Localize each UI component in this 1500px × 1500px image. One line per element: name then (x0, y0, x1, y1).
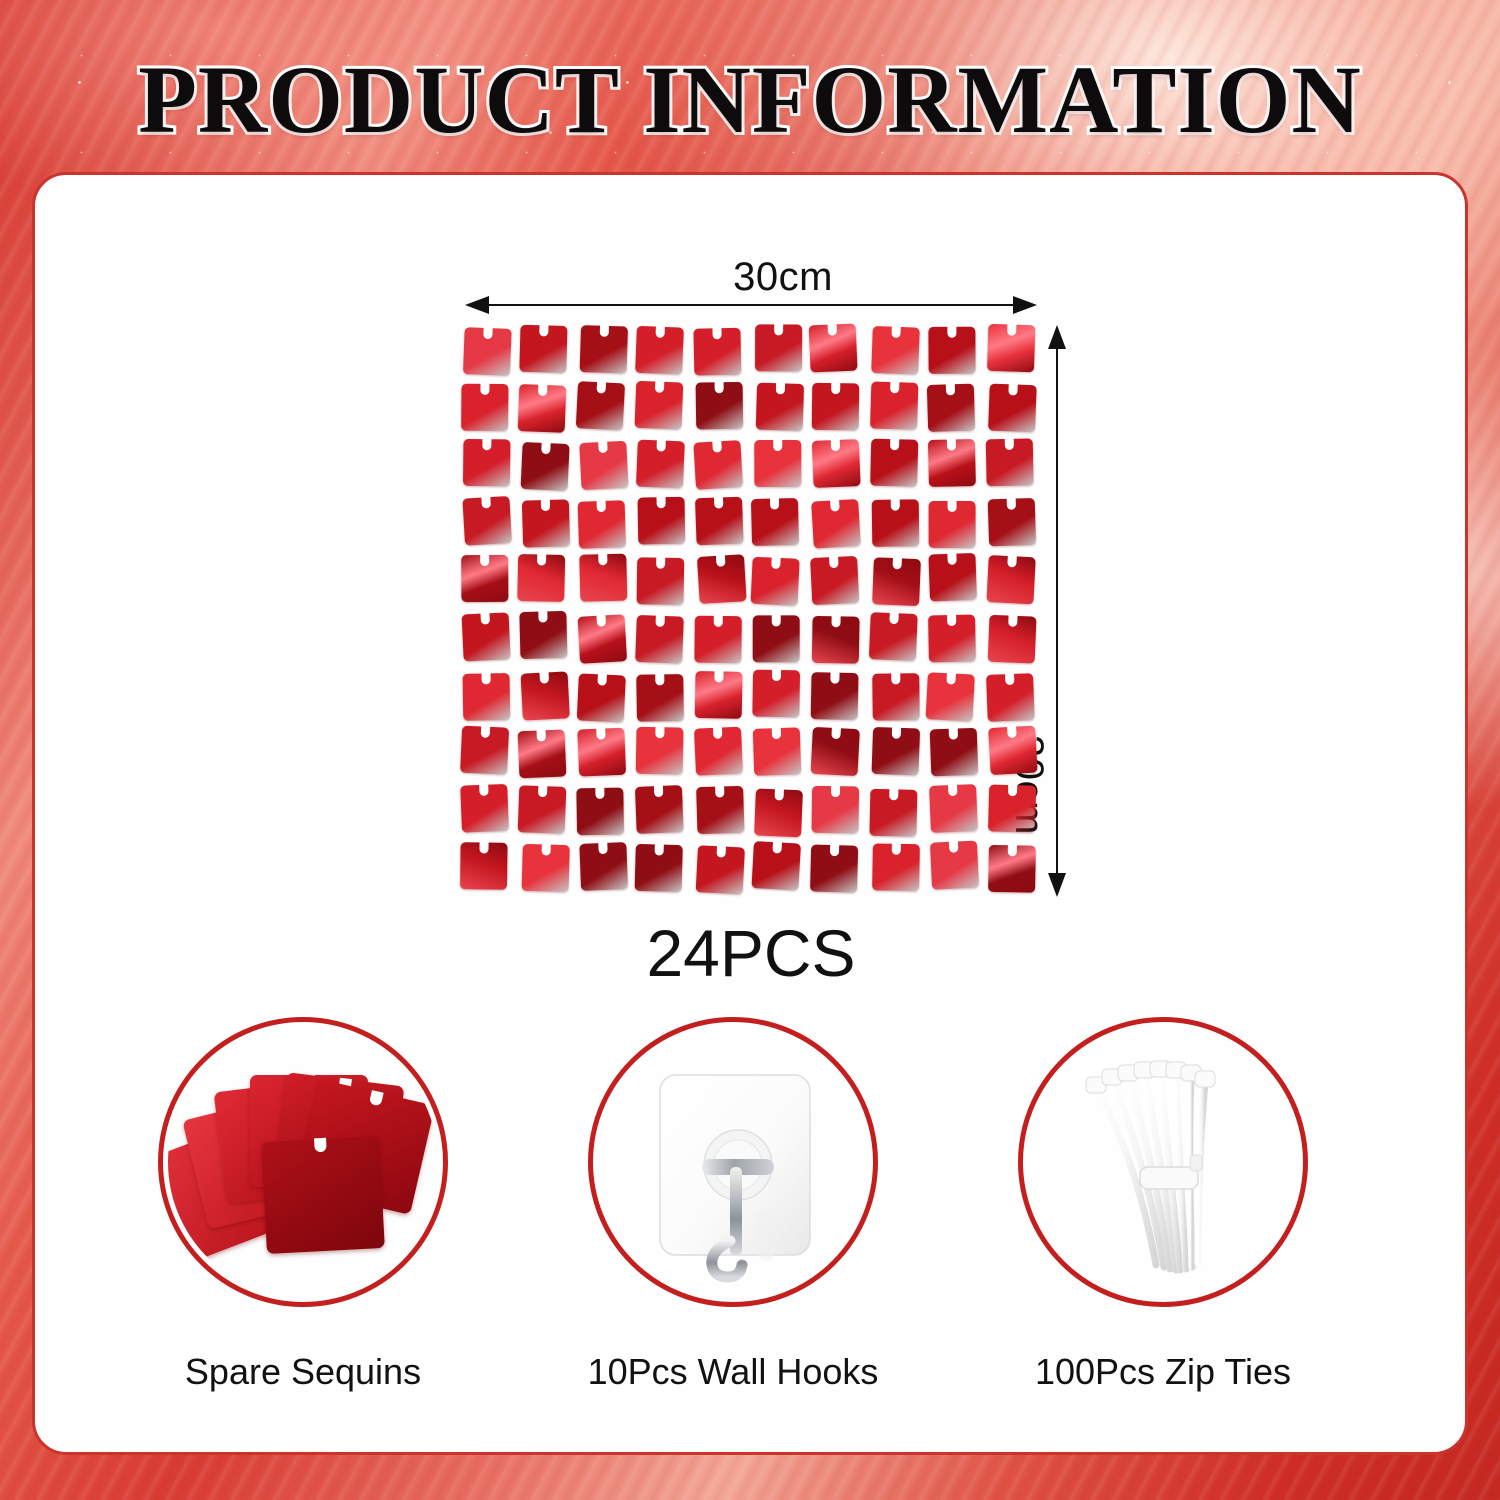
sequin-notch-icon (715, 554, 725, 568)
wall-hook-icon (598, 1027, 868, 1297)
sequin-cell (751, 841, 809, 899)
height-dimension-arrow-icon (1045, 323, 1069, 899)
sequin-cell (926, 611, 984, 669)
sequin-notch-icon (889, 787, 898, 800)
infographic-stage: PRODUCT INFORMATION 30cm 30cm 24PCS (0, 0, 1500, 1500)
sequin-notch-icon (772, 726, 781, 739)
sequin-notch-icon (537, 553, 546, 566)
sequin-notch-icon (596, 613, 606, 626)
sequin-tile (693, 328, 741, 376)
sequin-tile (460, 726, 509, 775)
sequin-cell (985, 496, 1043, 554)
sequin-notch-icon (948, 783, 958, 796)
sequin-notch-icon (772, 668, 781, 681)
sequin-tile (928, 615, 976, 663)
sequin-tile (695, 496, 744, 545)
sequin-notch-icon (890, 380, 899, 393)
sequin-cell (868, 553, 926, 611)
sequin-notch-icon (541, 498, 550, 511)
sequin-cell (459, 323, 517, 381)
sequin-tile (755, 324, 802, 371)
sequin-notch-icon (656, 725, 665, 738)
sequin-notch-icon (540, 323, 549, 336)
sequin-tile (694, 727, 743, 776)
sequin-tile (926, 672, 975, 721)
sequin-tile (518, 384, 567, 433)
sequin-notch-icon (656, 614, 665, 627)
sequin-cell (517, 726, 575, 784)
sequin-notch-icon (889, 611, 899, 624)
page-title: PRODUCT INFORMATION (0, 48, 1500, 152)
sequin-cell (634, 841, 692, 899)
sequin-notch-icon (599, 324, 608, 337)
sequin-cell (868, 611, 926, 669)
sequin-cell (809, 726, 867, 784)
sequin-tile (812, 439, 861, 488)
sequin-cell (634, 496, 692, 554)
sequin-cell (868, 496, 926, 554)
sequin-cell (926, 553, 984, 611)
sequin-cell (459, 496, 517, 554)
sequin-cell (576, 496, 634, 554)
sequin-cell (751, 611, 809, 669)
sequin-notch-icon (596, 380, 606, 393)
sequin-tile (986, 555, 1035, 604)
sequin-tile (463, 327, 512, 376)
sequin-tile (518, 554, 566, 602)
sequin-notch-icon (891, 671, 900, 684)
sequin-tile (636, 727, 684, 775)
sequin-notch-icon (947, 671, 957, 684)
sequin-notch-icon (657, 439, 667, 452)
sequin-notch-icon (1007, 844, 1016, 857)
sequin-tile (636, 674, 684, 722)
sequin-notch-icon (479, 841, 488, 854)
sequin-notch-icon (712, 439, 722, 453)
sequin-cell (517, 841, 575, 899)
sequin-cell (985, 669, 1043, 727)
sequin-tile (753, 728, 801, 776)
sequin-notch-icon (713, 614, 722, 627)
sequin-cell (517, 784, 575, 842)
sequin-cell (459, 726, 517, 784)
width-dimension-arrow-icon (463, 293, 1039, 317)
sequin-notch-icon (772, 613, 781, 626)
sequin-tile (697, 555, 747, 605)
sequin-notch-icon (480, 611, 490, 624)
sequin-cell (459, 669, 517, 727)
sequin-tile (872, 844, 920, 892)
sequin-tile (810, 556, 859, 605)
sequin-cell (751, 496, 809, 554)
sequin-notch-icon (482, 437, 491, 450)
sequin-cell (809, 784, 867, 842)
accessory-caption: Spare Sequins (138, 1351, 468, 1393)
sequin-cell (868, 784, 926, 842)
sequin-notch-icon (948, 325, 957, 338)
sequin-cell (459, 611, 517, 669)
sequin-tile (635, 785, 684, 834)
sequin-tile (638, 497, 686, 545)
sequin-notch-icon (598, 440, 608, 453)
sequin-notch-icon (947, 613, 956, 626)
sequin-notch-icon (657, 495, 666, 508)
sequin-cell (693, 323, 751, 381)
sequin-tile (869, 789, 917, 837)
sequin-cell (985, 553, 1043, 611)
sequin-tile (811, 672, 859, 720)
sequin-tile (695, 846, 744, 895)
sequin-notch-icon (537, 728, 547, 741)
sequin-notch-icon (831, 784, 840, 797)
sequin-tile (930, 728, 979, 777)
sequin-cell (751, 784, 809, 842)
sequin-notch-icon (714, 669, 723, 682)
sequin-cell (693, 726, 751, 784)
sequin-tile (635, 380, 684, 429)
accessory-inset-zip-ties (1018, 1017, 1308, 1307)
sequin-notch-icon (538, 784, 547, 797)
sequin-tile (812, 499, 862, 549)
sequin-cell (926, 323, 984, 381)
sequin-tile (635, 844, 683, 892)
sequin-tile (635, 615, 684, 664)
sequin-cell (985, 726, 1043, 784)
sequin-cell (809, 841, 867, 899)
sequin-notch-icon (1005, 671, 1014, 684)
sequin-notch-icon (715, 784, 724, 797)
sequin-notch-icon (483, 326, 492, 339)
sequin-notch-icon (656, 556, 665, 569)
sequin-cell (868, 438, 926, 496)
sequin-cell (634, 726, 692, 784)
sequin-tile (751, 557, 800, 606)
sequin-cell (693, 841, 751, 899)
sequin-tile (522, 499, 570, 547)
sequin-tile (929, 501, 976, 548)
sequin-cell (576, 438, 634, 496)
sequin-notch-icon (771, 556, 781, 569)
sequin-notch-icon (890, 437, 899, 450)
sequin-cell (693, 496, 751, 554)
sequin-notch-icon (655, 672, 664, 685)
sequin-cell (693, 784, 751, 842)
sequin-tile (577, 614, 627, 664)
sequin-cell (459, 438, 517, 496)
sequin-tile (462, 496, 512, 546)
sequin-notch-icon (948, 552, 957, 565)
sequin-notch-icon (1006, 496, 1015, 509)
sequin-tile (872, 499, 920, 547)
sequin-tile (812, 616, 860, 664)
sequin-tile (987, 615, 1036, 664)
sequin-cell (985, 323, 1043, 381)
sequin-notch-icon (772, 840, 782, 853)
sequin-notch-icon (892, 842, 901, 855)
sequin-cell (576, 669, 634, 727)
sequin-tile (636, 440, 685, 489)
sequin-cell (693, 381, 751, 439)
sequin-notch-icon (542, 441, 552, 454)
sequin-notch-icon (481, 725, 491, 738)
sequin-tile (576, 787, 624, 835)
sequin-cell (926, 381, 984, 439)
sequin-cell (634, 784, 692, 842)
sequin-notch-icon (946, 382, 955, 395)
sequin-cell (459, 841, 517, 899)
sequin-notch-icon (712, 326, 721, 339)
sequin-panel (459, 323, 1043, 899)
sequin-cell (459, 381, 517, 439)
sequin-cell (751, 381, 809, 439)
accessory-inset-spare-sequins (158, 1017, 448, 1307)
sequin-notch-icon (832, 614, 841, 627)
sequin-notch-icon (714, 380, 723, 393)
sequin-notch-icon (656, 325, 666, 338)
sequin-cell (926, 669, 984, 727)
sequin-tile (579, 325, 627, 373)
sequin-cell (926, 438, 984, 496)
sequin-tile (460, 843, 508, 891)
sequin-tile (751, 498, 799, 546)
sequin-notch-icon (716, 845, 726, 858)
sequin-tile (812, 786, 860, 834)
content-card: 30cm 30cm 24PCS (32, 172, 1468, 1455)
sequin-tile (871, 727, 920, 776)
sequin-cell (693, 611, 751, 669)
sequin-cell (868, 381, 926, 439)
sequin-tile (637, 558, 685, 606)
sequin-cell (576, 784, 634, 842)
sequin-cell (868, 841, 926, 899)
sequin-cell (751, 669, 809, 727)
sequin-tile (872, 558, 921, 607)
sequin-notch-icon (832, 726, 842, 739)
sequin-tile (929, 553, 978, 602)
sequin-notch-icon (479, 782, 488, 795)
sequin-tile (871, 326, 920, 375)
sequin-tile (463, 439, 510, 486)
sequin-cell (985, 611, 1043, 669)
sequin-notch-icon (481, 495, 491, 508)
sequin-cell (517, 496, 575, 554)
sequin-notch-icon (773, 438, 782, 451)
sequin-notch-icon (776, 381, 785, 394)
sequin-tile (577, 728, 626, 777)
sequin-tile (754, 788, 803, 837)
sequin-tile (579, 843, 628, 892)
sequin-notch-icon (598, 841, 607, 854)
sequin-notch-icon (655, 379, 664, 392)
sequin-tile (985, 439, 1033, 487)
sequin-tile (577, 500, 625, 548)
sequin-tile (521, 671, 570, 720)
sequin-cell (809, 553, 867, 611)
sequin-notch-icon (831, 670, 840, 683)
sequin-notch-icon (596, 727, 606, 740)
sequin-cell (634, 669, 692, 727)
sequin-notch-icon (595, 786, 604, 799)
sequin-notch-icon (538, 382, 547, 395)
sequin-cell (926, 841, 984, 899)
sequin-notch-icon (480, 553, 489, 566)
sequin-cell (809, 496, 867, 554)
sequin-tile (928, 439, 976, 487)
sequin-cell (517, 438, 575, 496)
sequin-notch-icon (481, 671, 490, 684)
sequin-notch-icon (890, 497, 899, 510)
sequin-notch-icon (891, 325, 900, 338)
sequin-tile (693, 440, 743, 490)
sequin-tile (809, 324, 858, 373)
sequin-cell (693, 669, 751, 727)
sequin-tile (695, 381, 743, 429)
sequin-tile (929, 327, 976, 374)
zip-tie-bundle-icon (1028, 1027, 1298, 1297)
sequin-notch-icon (480, 381, 489, 394)
sequin-notch-icon (1008, 783, 1017, 796)
sequin-notch-icon (831, 438, 841, 451)
sequin-tile (870, 381, 918, 429)
sequin-tile (869, 612, 918, 661)
sequin-cell (751, 726, 809, 784)
sequin-tile (812, 382, 860, 430)
sequin-tile (752, 669, 800, 717)
sequin-cell (985, 381, 1043, 439)
sequin-cell (809, 323, 867, 381)
sequin-notch-icon (830, 498, 840, 512)
sequin-notch-icon (949, 727, 958, 740)
sequin-tile (987, 498, 1035, 546)
sequin-tile (988, 784, 1036, 832)
sequin-notch-icon (542, 843, 551, 856)
sequin-notch-icon (597, 672, 607, 685)
sequin-notch-icon (774, 322, 783, 335)
sequin-cell (517, 381, 575, 439)
sequin-tile (929, 784, 978, 833)
sequin-notch-icon (829, 555, 839, 568)
sequin-notch-icon (1008, 382, 1017, 395)
sequin-notch-icon (828, 322, 838, 335)
sequin-cell (634, 381, 692, 439)
sequin-cell (459, 553, 517, 611)
sequin-cell (576, 841, 634, 899)
sequin-tile (811, 727, 860, 776)
sequin-tile (694, 616, 741, 663)
sequin-tile (986, 673, 1035, 722)
sequin-notch-icon (948, 499, 957, 512)
sequin-tile (460, 784, 509, 833)
sequin-tile (518, 730, 567, 779)
sequin-tile (579, 441, 628, 490)
sequin-cell (576, 726, 634, 784)
sequin-cell (985, 841, 1043, 899)
accessory-inset-wall-hooks (588, 1017, 878, 1307)
sequin-cell (809, 611, 867, 669)
sequin-cell (751, 438, 809, 496)
sequin-tile (754, 440, 801, 487)
sequin-notch-icon (654, 784, 663, 797)
sequin-tile (635, 326, 684, 375)
sequin-notch-icon (892, 556, 902, 569)
sequin-notch-icon (774, 787, 784, 800)
sequin-cell (634, 438, 692, 496)
accessory-caption: 100Pcs Zip Ties (998, 1351, 1328, 1393)
sequin-tile (576, 381, 625, 430)
sequin-tile (751, 841, 801, 891)
sequin-cell (576, 381, 634, 439)
sequin-notch-icon (539, 609, 548, 622)
sequin-tile (579, 554, 627, 602)
sequin-tile (870, 439, 918, 487)
sequin-tile (988, 726, 1037, 775)
sequin-tile (462, 612, 511, 661)
sequin-tile (520, 325, 568, 373)
sequin-tile (988, 383, 1037, 432)
sequin-notch-icon (713, 495, 722, 508)
sequin-tile (753, 615, 800, 662)
sequin-cell (751, 553, 809, 611)
sequin-notch-icon (655, 843, 664, 856)
sequin-cell (926, 726, 984, 784)
sequin-tile (577, 673, 626, 722)
sequin-cell (751, 323, 809, 381)
sequin-cell (868, 726, 926, 784)
sequin-cell (459, 784, 517, 842)
sequin-tile (810, 845, 858, 893)
sequin-tile (463, 673, 511, 721)
sequin-notch-icon (949, 840, 959, 853)
sequin-notch-icon (892, 726, 901, 739)
sequin-notch-icon (598, 552, 607, 565)
sequin-cell (576, 611, 634, 669)
sequin-cell (809, 381, 867, 439)
sequin-cell (576, 323, 634, 381)
sequin-tile (930, 841, 979, 890)
sequin-notch-icon (712, 726, 722, 739)
sequin-tile (988, 845, 1036, 893)
sequin-tile (521, 442, 570, 491)
sequin-cell (809, 669, 867, 727)
sequin-cell (926, 784, 984, 842)
sequin-tile (522, 844, 570, 892)
sequin-notch-icon (830, 843, 839, 856)
sequin-cell (985, 784, 1043, 842)
sequin-notch-icon (947, 438, 956, 451)
sequin-notch-icon (1007, 554, 1017, 567)
sequin-tile (461, 555, 508, 602)
panel-quantity-label: 24PCS (459, 915, 1043, 991)
sequin-cell (517, 323, 575, 381)
sequin-cell (517, 669, 575, 727)
sequin-cell (517, 611, 575, 669)
sequin-tile (694, 671, 742, 719)
sequin-cell (868, 323, 926, 381)
sequin-tile (927, 383, 975, 431)
sequin-notch-icon (832, 381, 841, 394)
sequin-cell (985, 438, 1043, 496)
sequin-cell (693, 438, 751, 496)
sequin-notch-icon (540, 670, 550, 683)
sequin-stack-icon (168, 1027, 438, 1297)
sequin-cell (868, 669, 926, 727)
sequin-tile (872, 673, 920, 721)
sequin-cell (634, 323, 692, 381)
sequin-notch-icon (596, 499, 605, 512)
sequin-tile (987, 324, 1035, 372)
sequin-tile (696, 786, 744, 834)
sequin-cell (517, 553, 575, 611)
